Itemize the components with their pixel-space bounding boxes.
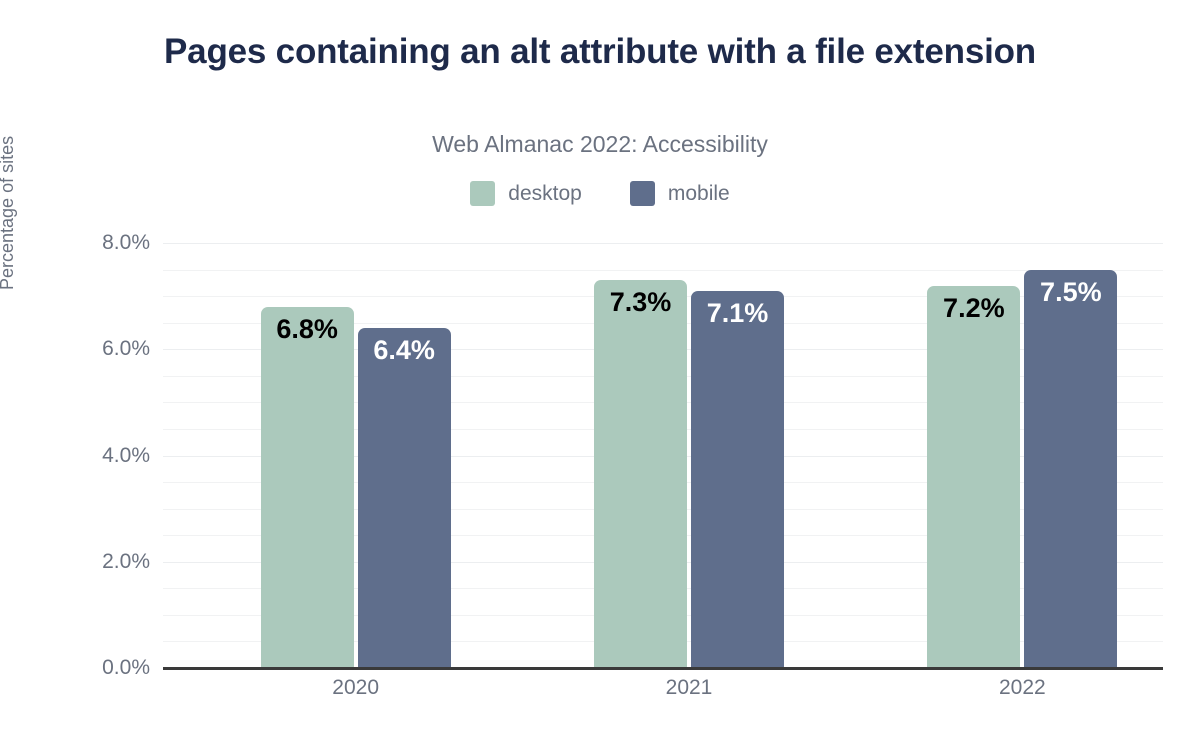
y-axis-tick-label: 2.0% (102, 550, 150, 574)
bars-layer: 6.8%6.4%7.3%7.1%7.2%7.5% (163, 243, 1163, 668)
bar-group-2020: 6.8%6.4% (261, 243, 451, 668)
legend-swatch-desktop (470, 181, 495, 206)
x-axis-tick-label: 2020 (332, 676, 379, 700)
bar-group-2022: 7.2%7.5% (927, 243, 1117, 668)
bar-mobile-2020[interactable]: 6.4% (358, 328, 451, 668)
y-axis-tick-label: 4.0% (102, 444, 150, 468)
y-axis-tick-label: 8.0% (102, 231, 150, 255)
x-axis-tick-label: 2022 (999, 676, 1046, 700)
chart-legend: desktop mobile (0, 181, 1200, 206)
x-axis-ticks: 202020212022 (163, 676, 1163, 716)
chart-subtitle: Web Almanac 2022: Accessibility (100, 131, 1100, 158)
bar-mobile-2021[interactable]: 7.1% (691, 291, 784, 668)
legend-label-desktop: desktop (508, 182, 582, 206)
bar-value-label: 6.4% (373, 337, 435, 364)
bar-mobile-2022[interactable]: 7.5% (1024, 270, 1117, 668)
y-axis-tick-label: 0.0% (102, 656, 150, 680)
bar-group-2021: 7.3%7.1% (594, 243, 784, 668)
legend-label-mobile: mobile (668, 182, 730, 206)
y-axis-tick-label: 6.0% (102, 337, 150, 361)
bar-value-label: 7.5% (1040, 279, 1102, 306)
legend-item-mobile[interactable]: mobile (630, 181, 730, 206)
bar-value-label: 7.3% (610, 289, 672, 316)
chart-title: Pages containing an alt attribute with a… (100, 30, 1100, 73)
x-axis-tick-label: 2021 (666, 676, 713, 700)
bar-value-label: 7.2% (943, 295, 1005, 322)
legend-item-desktop[interactable]: desktop (470, 181, 582, 206)
bar-value-label: 6.8% (276, 316, 338, 343)
x-axis-line (163, 667, 1163, 670)
bar-value-label: 7.1% (707, 300, 769, 327)
bar-desktop-2021[interactable]: 7.3% (594, 280, 687, 668)
y-axis-ticks: 0.0%2.0%4.0%6.0%8.0% (0, 243, 150, 668)
legend-swatch-mobile (630, 181, 655, 206)
bar-desktop-2022[interactable]: 7.2% (927, 286, 1020, 669)
bar-chart: Pages containing an alt attribute with a… (0, 0, 1200, 742)
bar-desktop-2020[interactable]: 6.8% (261, 307, 354, 668)
